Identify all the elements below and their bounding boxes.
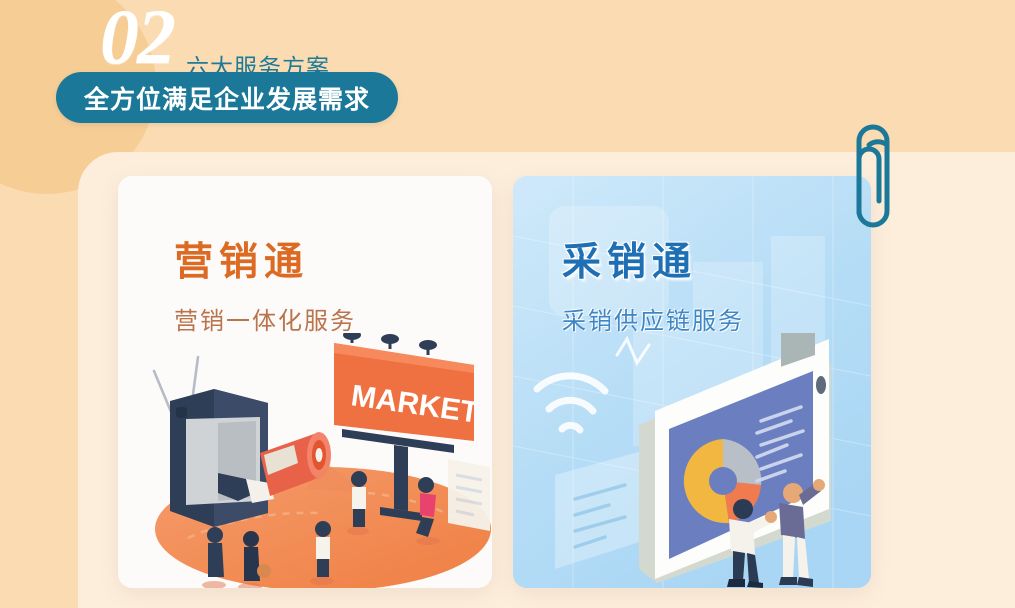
service-card-procurement[interactable]: 采销通 采销供应链服务 [513, 176, 871, 588]
service-card-marketing[interactable]: 营销通 营销一体化服务 [118, 176, 492, 588]
headline-pill-label: 全方位满足企业发展需求 [84, 80, 370, 116]
card-title: 营销通 [174, 231, 309, 287]
poster-stage: 02 六大服务方案 全方位满足企业发展需求 营销通 营销一体化服务 [0, 0, 1015, 608]
supply-chain-illustration [513, 333, 871, 588]
document-card [555, 449, 649, 569]
section-number: 02 [100, 0, 174, 76]
card-subtitle: 营销一体化服务 [174, 301, 356, 336]
card-subtitle: 采销供应链服务 [562, 301, 744, 336]
marketing-illustration: MARKET [118, 333, 492, 588]
headline-pill[interactable]: 全方位满足企业发展需求 [56, 72, 398, 123]
card-title: 采销通 [562, 231, 697, 287]
header: 02 六大服务方案 全方位满足企业发展需求 [0, 0, 560, 140]
line-chart-icon [617, 339, 649, 363]
retro-tv-icon [154, 357, 268, 527]
paperclip-icon [845, 115, 901, 233]
wifi-icon [537, 376, 605, 430]
document-icon [448, 459, 490, 531]
